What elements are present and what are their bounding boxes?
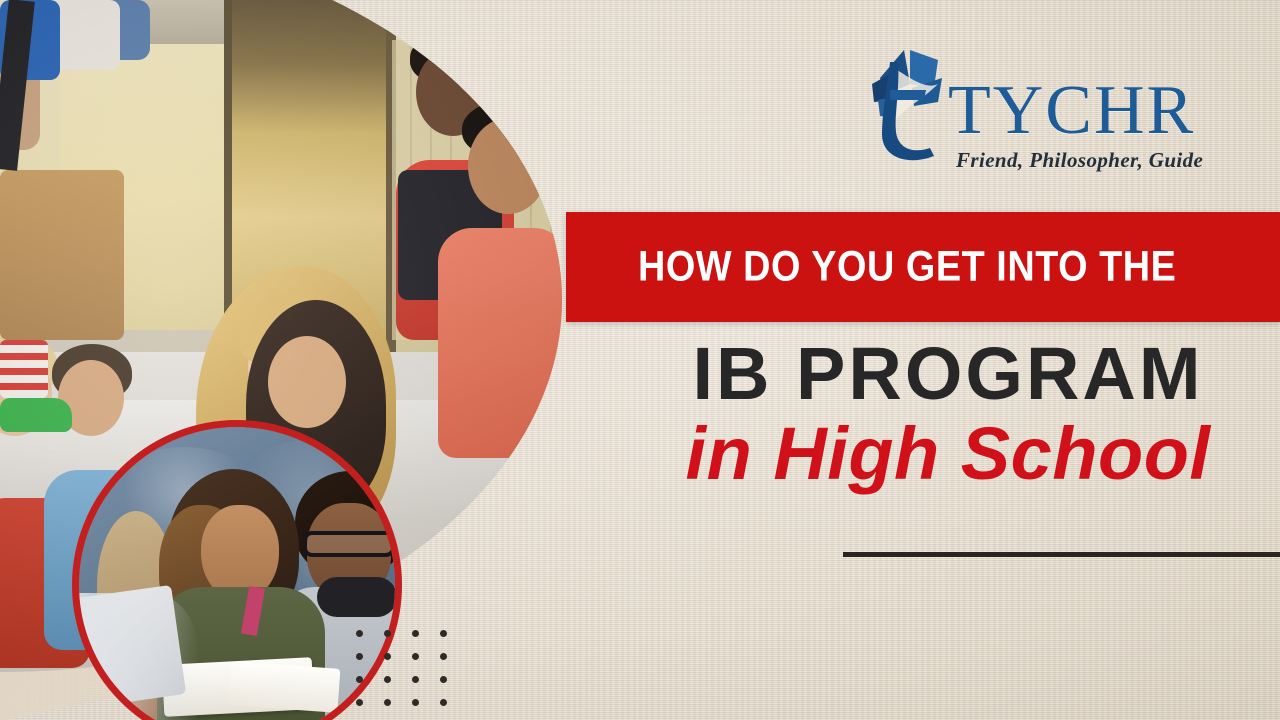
grid-dot (412, 699, 419, 706)
headline-line-1: IB PROGRAM (628, 336, 1268, 411)
tychr-wordmark: TYCHR (948, 76, 1195, 146)
grid-dot (356, 699, 363, 706)
grid-dot (440, 676, 447, 683)
inset-photo-circle (72, 420, 402, 720)
headline-line-2: in High School (628, 415, 1268, 493)
grid-dot (384, 699, 391, 706)
grid-dot (440, 630, 447, 637)
grid-dot (384, 630, 391, 637)
tychr-logo[interactable]: TYCHR Friend, Philosopher, Guide (864, 44, 1216, 180)
headline-underline-rule (843, 552, 1280, 557)
grid-dot (356, 676, 363, 683)
grid-dot (440, 699, 447, 706)
poster-canvas: TYCHR Friend, Philosopher, Guide HOW DO … (0, 0, 1280, 720)
grid-dot (356, 653, 363, 660)
grid-dot (412, 630, 419, 637)
headline-block: IB PROGRAM in High School (628, 336, 1268, 494)
eyebrow-banner: HOW DO YOU GET INTO THE (566, 212, 1280, 322)
eyebrow-text: HOW DO YOU GET INTO THE (638, 243, 1176, 292)
grid-dot (384, 676, 391, 683)
grid-dot (412, 653, 419, 660)
dot-grid-decoration (356, 630, 456, 714)
grid-dot (412, 676, 419, 683)
tychr-tagline: Friend, Philosopher, Guide (956, 148, 1203, 173)
grid-dot (384, 653, 391, 660)
tychr-t-monogram-icon (864, 44, 950, 162)
grid-dot (440, 653, 447, 660)
grid-dot (356, 630, 363, 637)
